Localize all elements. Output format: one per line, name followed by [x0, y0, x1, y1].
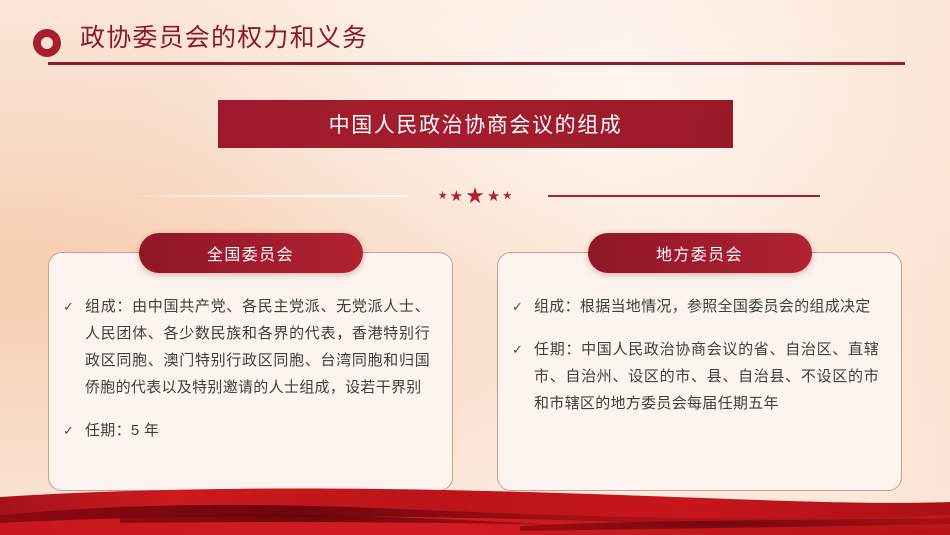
- list-item-text: 组成：由中国共产党、各民主党派、无党派人士、人民团体、各少数民族和各界的代表，香…: [85, 293, 430, 401]
- check-icon: ✓: [63, 417, 85, 444]
- star-icon: ★: [438, 191, 448, 202]
- list-item-text: 任期：5 年: [85, 417, 430, 444]
- page-title: 政协委员会的权力和义务: [80, 22, 368, 54]
- header-divider: [48, 62, 905, 65]
- ring-icon: [33, 29, 61, 57]
- card-body: ✓ 组成：根据当地情况，参照全国委员会的组成决定 ✓ 任期：中国人民政治协商会议…: [498, 293, 901, 417]
- list-item: ✓ 组成：由中国共产党、各民主党派、无党派人士、人民团体、各少数民族和各界的代表…: [63, 293, 430, 401]
- check-icon: ✓: [63, 293, 85, 320]
- divider-line-right: [548, 195, 820, 197]
- divider-line-left: [130, 195, 408, 197]
- card-national-committee: 全国委员会 ✓ 组成：由中国共产党、各民主党派、无党派人士、人民团体、各少数民族…: [48, 252, 453, 491]
- card-local-committee: 地方委员会 ✓ 组成：根据当地情况，参照全国委员会的组成决定 ✓ 任期：中国人民…: [497, 252, 902, 491]
- slide: 政协委员会的权力和义务 中国人民政治协商会议的组成 ★ ★ ★ ★ ★ 全国委员…: [0, 0, 950, 535]
- slide-header: 政协委员会的权力和义务: [0, 0, 950, 80]
- list-item: ✓ 任期：中国人民政治协商会议的省、自治区、直辖市、自治州、设区的市、县、自治县…: [512, 336, 879, 417]
- star-divider: ★ ★ ★ ★ ★: [130, 184, 820, 208]
- section-banner-title: 中国人民政治协商会议的组成: [329, 109, 623, 139]
- card-header-pill: 全国委员会: [139, 233, 363, 273]
- card-header-label: 全国委员会: [207, 241, 294, 265]
- card-body: ✓ 组成：由中国共产党、各民主党派、无党派人士、人民团体、各少数民族和各界的代表…: [49, 293, 452, 444]
- star-icon: ★: [502, 191, 512, 202]
- star-icon: ★: [450, 189, 463, 204]
- star-icon: ★: [487, 189, 500, 204]
- divider-stars: ★ ★ ★ ★ ★: [420, 184, 530, 208]
- list-item-text: 任期：中国人民政治协商会议的省、自治区、直辖市、自治州、设区的市、县、自治县、不…: [534, 336, 879, 417]
- list-item: ✓ 组成：根据当地情况，参照全国委员会的组成决定: [512, 293, 879, 320]
- ribbon-svg: [0, 471, 950, 535]
- section-banner: 中国人民政治协商会议的组成: [218, 100, 733, 148]
- check-icon: ✓: [512, 293, 534, 320]
- star-icon: ★: [465, 185, 485, 207]
- list-item-text: 组成：根据当地情况，参照全国委员会的组成决定: [534, 293, 879, 320]
- list-item: ✓ 任期：5 年: [63, 417, 430, 444]
- bottom-ribbon-decoration: [0, 471, 950, 535]
- check-icon: ✓: [512, 336, 534, 363]
- card-header-label: 地方委员会: [656, 241, 743, 265]
- card-header-pill: 地方委员会: [588, 233, 812, 273]
